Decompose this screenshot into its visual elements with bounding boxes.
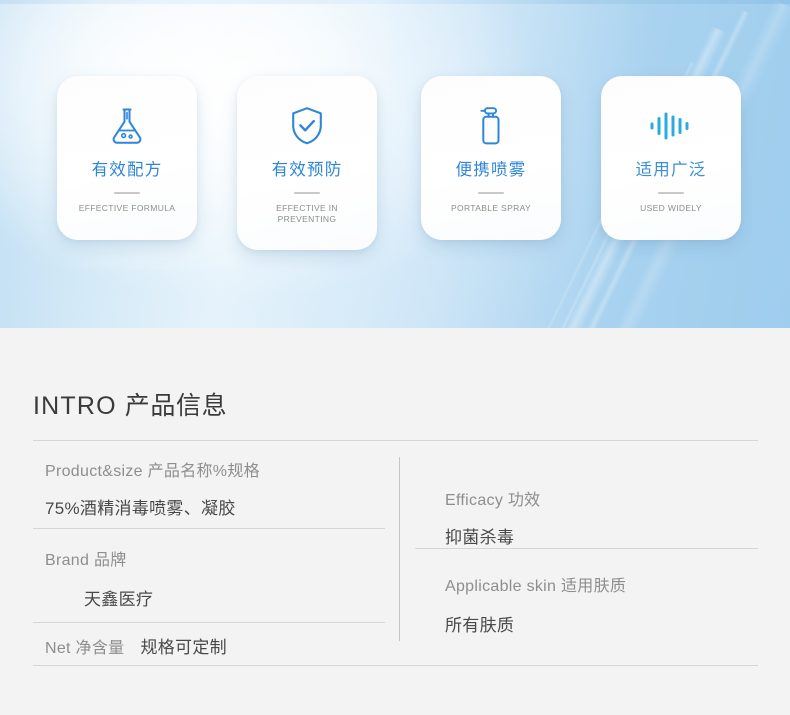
feature-card-subtitle: EFFECTIVE IN PREVENTING [276,203,338,226]
hero-banner: 有效配方 EFFECTIVE FORMULA 有效预防 EFFECTIVE IN… [0,0,790,328]
section-title: INTRO产品信息 [33,394,227,419]
feature-card-subtitle: EFFECTIVE FORMULA [79,203,176,214]
spec-field-brand: Brand 品牌 天鑫医疗 [45,553,153,608]
waveform-icon [648,104,694,148]
feature-card-subtitle: PORTABLE SPRAY [451,203,531,214]
section-title-cn: 产品信息 [125,392,227,420]
feature-card-subtitle: USED WIDELY [640,203,702,214]
spec-label: Product&size 产品名称%规格 [45,464,260,480]
divider-left-1 [33,528,385,529]
feature-card-title: 有效预防 [272,162,343,179]
product-detail-page: 有效配方 EFFECTIVE FORMULA 有效预防 EFFECTIVE IN… [0,0,790,715]
feature-card-effective-in-preventing[interactable]: 有效预防 EFFECTIVE IN PREVENTING [237,76,377,250]
feature-card-effective-formula[interactable]: 有效配方 EFFECTIVE FORMULA [57,76,197,240]
shield-check-icon [288,104,326,148]
spec-value: 抑菌杀毒 [445,529,540,546]
feature-card-title: 有效配方 [92,162,163,179]
spec-label: Net 净含量 [45,641,124,657]
feature-card-used-widely[interactable]: 适用广泛 USED WIDELY [601,76,741,240]
spec-field-efficacy: Efficacy 功效 抑菌杀毒 [445,493,540,546]
feature-card-title: 适用广泛 [636,162,707,179]
feature-card-list: 有效配方 EFFECTIVE FORMULA 有效预防 EFFECTIVE IN… [0,0,790,328]
spec-value: 75%酒精消毒喷雾、凝胶 [45,500,260,517]
divider [478,192,504,194]
spec-label: Efficacy 功效 [445,493,540,509]
spec-label: Applicable skin 适用肤质 [445,579,626,595]
flask-icon [107,104,147,148]
spec-label: Brand 品牌 [45,553,153,569]
divider [658,192,684,194]
divider-bottom [33,665,758,666]
spec-field-applicable-skin: Applicable skin 适用肤质 所有肤质 [445,579,626,634]
product-info-section: INTRO产品信息 Product&size 产品名称%规格 75%酒精消毒喷雾… [0,328,790,715]
spray-bottle-icon [474,104,508,148]
divider-top [33,440,758,441]
divider-vertical [399,457,400,641]
spec-value: 规格可定制 [140,639,227,656]
spec-value: 所有肤质 [445,617,626,634]
divider-right-1 [415,548,758,549]
feature-card-portable-spray[interactable]: 便携喷雾 PORTABLE SPRAY [421,76,561,240]
spec-value: 天鑫医疗 [84,591,153,608]
feature-card-title: 便携喷雾 [456,162,527,179]
spec-field-product: Product&size 产品名称%规格 75%酒精消毒喷雾、凝胶 [45,464,260,517]
section-title-en: INTRO [33,392,117,420]
divider [114,192,140,194]
spec-field-net: Net 净含量 规格可定制 [45,639,227,657]
divider [294,192,320,194]
divider-left-2 [33,622,385,623]
